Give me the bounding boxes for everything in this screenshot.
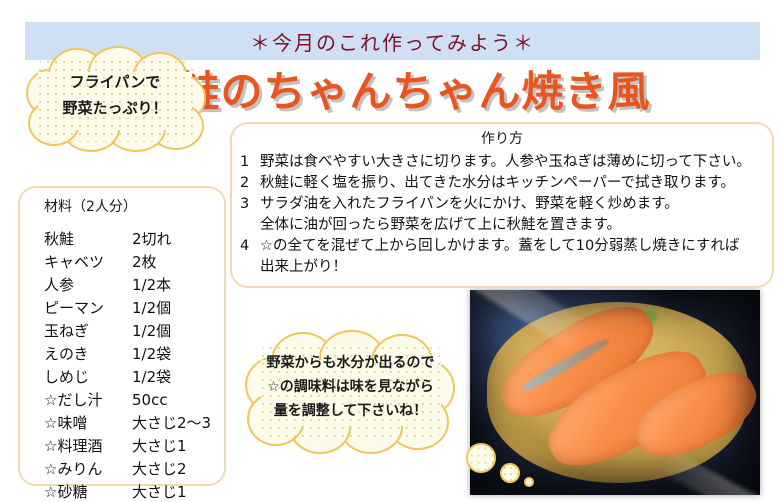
method-title: 作り方 (230, 128, 774, 148)
tip-bottom-line-3: 量を調整して下さいね！ (243, 402, 458, 422)
ingredient-name: 人参 (44, 274, 132, 297)
tip-bottom-line-2: ☆の調味料は味を見ながら (243, 378, 458, 398)
ingredient-amount: 50cc (132, 389, 219, 412)
ingredient-row: ☆砂糖大さじ1 (44, 481, 219, 502)
ingredient-amount: 大さじ1 (132, 435, 219, 458)
ingredient-name: ☆料理酒 (44, 435, 132, 458)
method-step: 4☆の全てを混ぜて上から回しかけます。蓋をして10分弱蒸し焼きにすれば (240, 236, 770, 257)
ingredients-title: 材料（2人分） (44, 196, 137, 216)
step-text: サラダ油を入れたフライパンを火にかけ、野菜を軽く炒めます。 (260, 194, 770, 215)
recipe-card: ＊今月のこれ作ってみよう＊ 秋鮭のちゃんちゃん焼き風 材料（2人分） 秋鮭2切れ… (0, 0, 780, 502)
step-number: 1 (240, 152, 260, 173)
ingredient-amount: 1/2袋 (132, 366, 219, 389)
method-step: 3サラダ油を入れたフライパンを火にかけ、野菜を軽く炒めます。 (240, 194, 770, 215)
ingredient-row: ☆みりん大さじ2 (44, 458, 219, 481)
ingredient-name: しめじ (44, 366, 132, 389)
ingredient-row: しめじ1/2袋 (44, 366, 219, 389)
ingredient-amount: 大さじ2 (132, 458, 219, 481)
ingredient-amount: 1/2袋 (132, 343, 219, 366)
ingredient-row: 玉ねぎ1/2個 (44, 320, 219, 343)
ingredient-row: ☆味噌大さじ2〜3 (44, 412, 219, 435)
ingredient-amount: 2枚 (132, 251, 219, 274)
ingredient-name: ☆砂糖 (44, 481, 132, 502)
ingredient-amount: 1/2個 (132, 320, 219, 343)
step-number: 2 (240, 173, 260, 194)
ingredient-name: ピーマン (44, 297, 132, 320)
bubble-tail-dot-large (466, 443, 496, 473)
ingredient-row: ☆だし汁50cc (44, 389, 219, 412)
ingredient-row: ☆料理酒大さじ1 (44, 435, 219, 458)
step-text: ☆の全てを混ぜて上から回しかけます。蓋をして10分弱蒸し焼きにすれば (260, 236, 770, 257)
step-text-continued: 出来上がり！ (240, 257, 770, 278)
ingredient-amount: 1/2個 (132, 297, 219, 320)
tip-bubble-top: フライパンで 野菜たっぷり！ (22, 46, 208, 152)
ingredient-row: キャベツ2枚 (44, 251, 219, 274)
ingredient-amount: 大さじ1 (132, 481, 219, 502)
ingredient-amount: 1/2本 (132, 274, 219, 297)
method-step: 2秋鮭に軽く塩を振り、出てきた水分はキッチンペーパーで拭き取ります。 (240, 173, 770, 194)
ingredient-row: えのき1/2袋 (44, 343, 219, 366)
method-step: 1野菜は食べやすい大きさに切ります。人参や玉ねぎは薄めに切って下さい。 (240, 152, 770, 173)
ingredient-name: ☆味噌 (44, 412, 132, 435)
ingredient-name: ☆だし汁 (44, 389, 132, 412)
ingredient-name: ☆みりん (44, 458, 132, 481)
ingredient-amount: 2切れ (132, 228, 219, 251)
ingredient-row: 秋鮭2切れ (44, 228, 219, 251)
method-steps: 1野菜は食べやすい大きさに切ります。人参や玉ねぎは薄めに切って下さい。2秋鮭に軽… (240, 152, 770, 278)
ingredient-name: 玉ねぎ (44, 320, 132, 343)
ingredients-list: 秋鮭2切れキャベツ2枚人参1/2本ピーマン1/2個玉ねぎ1/2個えのき1/2袋し… (44, 228, 219, 502)
bubble-tail-dot-medium (500, 463, 520, 483)
ingredient-name: えのき (44, 343, 132, 366)
ingredient-amount: 大さじ2〜3 (132, 412, 219, 435)
step-number: 4 (240, 236, 260, 257)
ingredient-row: 人参1/2本 (44, 274, 219, 297)
tip-top-line-1: フライパンで (22, 72, 208, 93)
bubble-tail-dot-small (524, 477, 534, 487)
step-text: 秋鮭に軽く塩を振り、出てきた水分はキッチンペーパーで拭き取ります。 (260, 173, 770, 194)
tip-bottom-line-1: 野菜からも水分が出るので (243, 354, 458, 374)
step-text-continued: 全体に油が回ったら野菜を広げて上に秋鮭を置きます。 (240, 215, 770, 236)
ingredient-name: 秋鮭 (44, 228, 132, 251)
tip-bubble-bottom: 野菜からも水分が出るので ☆の調味料は味を見ながら 量を調整して下さいね！ (243, 330, 458, 456)
ingredient-name: キャベツ (44, 251, 132, 274)
step-number: 3 (240, 194, 260, 215)
step-text: 野菜は食べやすい大きさに切ります。人参や玉ねぎは薄めに切って下さい。 (260, 152, 770, 173)
ingredient-row: ピーマン1/2個 (44, 297, 219, 320)
tip-top-line-2: 野菜たっぷり！ (22, 98, 208, 119)
